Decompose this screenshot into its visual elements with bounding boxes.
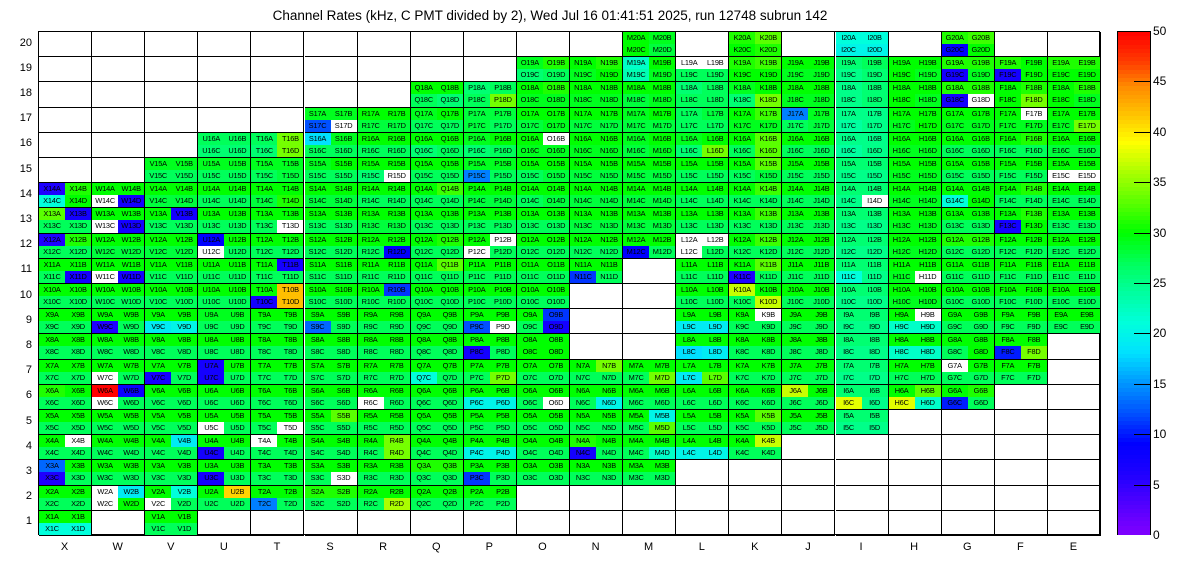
heatmap-cell: U16AU16BU16CU16D — [198, 133, 251, 158]
channel-cell: K13A — [729, 208, 755, 220]
channel-cell: H9A — [889, 309, 915, 321]
heatmap-cell — [729, 511, 782, 536]
channel-cell: N19C — [570, 69, 596, 81]
channel-cell: I8A — [836, 334, 862, 346]
channel-cell: G12D — [968, 246, 994, 258]
channel-cell: I14A — [836, 183, 862, 195]
channel-cell: O12B — [543, 234, 569, 246]
channel-cell: J18A — [782, 82, 808, 94]
heatmap-cell — [39, 32, 92, 57]
channel-cell: U7C — [198, 372, 224, 384]
channel-cell: Q12C — [411, 246, 437, 258]
channel-cell: S3D — [331, 472, 357, 484]
channel-cell: K7B — [755, 360, 781, 372]
heatmap-cell: T8AT8BT8CT8D — [251, 334, 304, 359]
heatmap-cell: L9AL9BL9CL9D — [676, 309, 729, 334]
channel-cell: K20C — [729, 44, 755, 56]
heatmap-cell: E14AE14BE14CE14D — [1048, 183, 1101, 208]
channel-cell: I7A — [836, 360, 862, 372]
heatmap-cell: J12AJ12BJ12CJ12D — [782, 234, 835, 259]
channel-cell: N6D — [596, 397, 622, 409]
channel-cell: Q8A — [411, 334, 437, 346]
channel-cell: T15D — [277, 170, 303, 182]
y-axis-tick-label: 5 — [4, 415, 32, 427]
channel-cell: Q14C — [411, 195, 437, 207]
channel-cell: X11C — [39, 271, 65, 283]
channel-cell: F12D — [1021, 246, 1047, 258]
heatmap-cell — [198, 511, 251, 536]
channel-cell: T12D — [277, 246, 303, 258]
heatmap-cell: X2AX2BX2CX2D — [39, 486, 92, 511]
channel-cell: S6D — [331, 397, 357, 409]
channel-cell: X13C — [39, 220, 65, 232]
channel-cell: H19B — [915, 57, 941, 69]
channel-cell: K5D — [755, 422, 781, 434]
heatmap-cell: O6AO6BO6CO6D — [517, 385, 570, 410]
channel-cell: H19A — [889, 57, 915, 69]
channel-cell: F19C — [995, 69, 1021, 81]
channel-cell: I6A — [836, 385, 862, 397]
channel-cell: G6B — [968, 385, 994, 397]
heatmap-cell: X10AX10BX10CX10D — [39, 284, 92, 309]
colorbar-segment — [1118, 530, 1150, 535]
heatmap-cell: X3AX3BX3CX3D — [39, 460, 92, 485]
channel-cell: T7B — [277, 360, 303, 372]
heatmap-cell: R12AR12BR12CR12D — [358, 234, 411, 259]
channel-cell: G13B — [968, 208, 994, 220]
channel-cell: J14D — [808, 195, 834, 207]
heatmap-cell: L8AL8BL8CL8D — [676, 334, 729, 359]
channel-cell: N16C — [570, 145, 596, 157]
channel-cell: T10D — [277, 296, 303, 308]
channel-cell: W10C — [92, 296, 118, 308]
heatmap-cell — [570, 511, 623, 536]
heatmap-cell: E9AE9BE9CE9D — [1048, 309, 1101, 334]
heatmap-cell — [570, 309, 623, 334]
channel-cell: F9A — [995, 309, 1021, 321]
channel-cell: X6B — [65, 385, 91, 397]
heatmap-cell — [995, 32, 1048, 57]
channel-cell: X12C — [39, 246, 65, 258]
channel-cell: R5C — [358, 422, 384, 434]
channel-cell: R14C — [358, 195, 384, 207]
channel-cell: L13C — [676, 220, 702, 232]
heatmap-cell: H10AH10BH10CH10D — [889, 284, 942, 309]
channel-cell: J15D — [808, 170, 834, 182]
channel-cell: Q18B — [437, 82, 463, 94]
channel-cell: Q9A — [411, 309, 437, 321]
heatmap-cell — [92, 32, 145, 57]
channel-cell: L9A — [676, 309, 702, 321]
heatmap-cell: O16AO16BO16CO16D — [517, 133, 570, 158]
channel-cell: E17B — [1074, 108, 1100, 120]
channel-cell: F18B — [1021, 82, 1047, 94]
channel-cell: T12A — [251, 234, 277, 246]
heatmap-cell: P5AP5BP5CP5D — [464, 410, 517, 435]
channel-cell: U8D — [224, 346, 250, 358]
heatmap-cell: J19AJ19BJ19CJ19D — [782, 57, 835, 82]
channel-cell: W3C — [92, 472, 118, 484]
channel-cell: Q14B — [437, 183, 463, 195]
channel-cell: P2C — [464, 498, 490, 510]
channel-cell: P17D — [490, 120, 516, 132]
x-axis-tick-label: F — [1000, 541, 1040, 553]
channel-cell: U2D — [224, 498, 250, 510]
channel-cell: R11B — [384, 259, 410, 271]
channel-cell: L7A — [676, 360, 702, 372]
heatmap-cell: V8AV8BV8CV8D — [145, 334, 198, 359]
channel-cell: S13A — [305, 208, 331, 220]
channel-cell: G10A — [942, 284, 968, 296]
x-axis-tick-label: R — [363, 541, 403, 553]
channel-cell: K16B — [755, 133, 781, 145]
channel-cell: K4C — [729, 447, 755, 459]
channel-cell: R6B — [384, 385, 410, 397]
channel-cell: U14A — [198, 183, 224, 195]
channel-cell: F10A — [995, 284, 1021, 296]
channel-cell: P17A — [464, 108, 490, 120]
channel-cell: J7A — [782, 360, 808, 372]
channel-cell: E16C — [1048, 145, 1074, 157]
channel-cell: F10C — [995, 296, 1021, 308]
channel-cell: P16A — [464, 133, 490, 145]
channel-cell: I17D — [862, 120, 888, 132]
channel-cell: V5B — [171, 410, 197, 422]
channel-cell: L12C — [676, 246, 702, 258]
heatmap-cell: J5AJ5BJ5CJ5D — [782, 410, 835, 435]
chart-title: Channel Rates (kHz, C PMT divided by 2),… — [0, 8, 1100, 23]
channel-cell: J5A — [782, 410, 808, 422]
channel-cell: Q8B — [437, 334, 463, 346]
heatmap-cell: M4AM4BM4CM4D — [623, 435, 676, 460]
channel-cell: S9D — [331, 321, 357, 333]
channel-cell: G18B — [968, 82, 994, 94]
y-axis-tick-label: 19 — [4, 62, 32, 74]
channel-cell: S3B — [331, 460, 357, 472]
heatmap-cell — [995, 511, 1048, 536]
heatmap-cell: K17AK17BK17CK17D — [729, 108, 782, 133]
channel-cell: E12C — [1048, 246, 1074, 258]
channel-cell: M13A — [623, 208, 649, 220]
heatmap-cell: S14AS14BS14CS14D — [305, 183, 358, 208]
heatmap-cell — [145, 57, 198, 82]
channel-cell: T8B — [277, 334, 303, 346]
channel-cell: T5C — [251, 422, 277, 434]
channel-cell: T16D — [277, 145, 303, 157]
channel-cell: L19C — [676, 69, 702, 81]
heatmap-cell: X9AX9BX9CX9D — [39, 309, 92, 334]
channel-cell: O3A — [517, 460, 543, 472]
channel-cell: F17A — [995, 108, 1021, 120]
channel-cell: R8D — [384, 346, 410, 358]
heatmap-cell: O11AO11BO11CO11D — [517, 259, 570, 284]
colorbar-tick-label: 40 — [1153, 125, 1166, 139]
channel-cell: V11B — [171, 259, 197, 271]
channel-cell: I6C — [836, 397, 862, 409]
heatmap-cell: R14AR14BR14CR14D — [358, 183, 411, 208]
channel-cell: W5C — [92, 422, 118, 434]
channel-cell: P16C — [464, 145, 490, 157]
heatmap-cell: W6AW6BW6CW6D — [92, 385, 145, 410]
channel-cell: F16C — [995, 145, 1021, 157]
channel-cell: G19B — [968, 57, 994, 69]
channel-cell: H19C — [889, 69, 915, 81]
channel-cell: V6B — [171, 385, 197, 397]
heatmap-cell: F18AF18BF18CF18D — [995, 82, 1048, 107]
channel-cell: V14C — [145, 195, 171, 207]
x-axis-tick-label: E — [1053, 541, 1093, 553]
x-axis-tick-label: H — [894, 541, 934, 553]
channel-cell: V7A — [145, 360, 171, 372]
channel-cell: Q13D — [437, 220, 463, 232]
channel-cell: L6A — [676, 385, 702, 397]
channel-cell: U6D — [224, 397, 250, 409]
channel-cell: T15A — [251, 158, 277, 170]
heatmap-cell: P13AP13BP13CP13D — [464, 208, 517, 233]
channel-cell: U13D — [224, 220, 250, 232]
heatmap-cell: S2AS2BS2CS2D — [305, 486, 358, 511]
channel-cell: S16D — [331, 145, 357, 157]
colorbar-tick-mark — [1134, 333, 1151, 334]
channel-cell: G11B — [968, 259, 994, 271]
channel-cell: S17A — [305, 108, 331, 120]
channel-cell: P15D — [490, 170, 516, 182]
channel-cell: S11A — [305, 259, 331, 271]
y-axis-tick-label: 13 — [4, 213, 32, 225]
channel-cell: N16B — [596, 133, 622, 145]
channel-cell: U13B — [224, 208, 250, 220]
channel-cell: G17A — [942, 108, 968, 120]
heatmap-cell: M15AM15BM15CM15D — [623, 158, 676, 183]
channel-cell: Q7D — [437, 372, 463, 384]
channel-cell: K5A — [729, 410, 755, 422]
channel-cell: R12B — [384, 234, 410, 246]
channel-cell: J11B — [808, 259, 834, 271]
colorbar-tick-label: 15 — [1153, 377, 1166, 391]
channel-cell: H11A — [889, 259, 915, 271]
heatmap-cell — [1048, 360, 1101, 385]
channel-cell: U2B — [224, 486, 250, 498]
channel-cell: K17B — [755, 108, 781, 120]
channel-cell: W12A — [92, 234, 118, 246]
channel-cell: L16D — [702, 145, 728, 157]
channel-cell: X11B — [65, 259, 91, 271]
channel-cell: J19C — [782, 69, 808, 81]
channel-cell: U9C — [198, 321, 224, 333]
channel-cell: X1A — [39, 511, 65, 523]
channel-cell: X12A — [39, 234, 65, 246]
channel-cell: R4A — [358, 435, 384, 447]
heatmap-cell: F15AF15BF15CF15D — [995, 158, 1048, 183]
x-axis-tick-label: S — [310, 541, 350, 553]
channel-cell: U5A — [198, 410, 224, 422]
channel-cell: X8C — [39, 346, 65, 358]
channel-cell: T3B — [277, 460, 303, 472]
heatmap-cell: R5AR5BR5CR5D — [358, 410, 411, 435]
channel-cell: F8B — [1021, 334, 1047, 346]
channel-cell: M17C — [623, 120, 649, 132]
channel-cell: Q18A — [411, 82, 437, 94]
heatmap-cell: L14AL14BL14CL14D — [676, 183, 729, 208]
channel-cell: X4C — [39, 447, 65, 459]
channel-cell: M14C — [623, 195, 649, 207]
channel-cell: E16B — [1074, 133, 1100, 145]
channel-cell: F17D — [1021, 120, 1047, 132]
channel-cell: V5D — [171, 422, 197, 434]
channel-cell: M3D — [649, 472, 675, 484]
channel-cell: F12A — [995, 234, 1021, 246]
heatmap-cell — [570, 284, 623, 309]
channel-cell: L19A — [676, 57, 702, 69]
channel-cell: P17B — [490, 108, 516, 120]
channel-cell: Q5C — [411, 422, 437, 434]
channel-cell: S16C — [305, 145, 331, 157]
heatmap-cell: V7AV7BV7CV7D — [145, 360, 198, 385]
channel-cell: U2A — [198, 486, 224, 498]
channel-cell: J11A — [782, 259, 808, 271]
heatmap-cell: U14AU14BU14CU14D — [198, 183, 251, 208]
channel-cell: G12B — [968, 234, 994, 246]
channel-cell: P7C — [464, 372, 490, 384]
heatmap-cell: Q5AQ5BQ5CQ5D — [411, 410, 464, 435]
channel-cell: J19D — [808, 69, 834, 81]
channel-cell: F14A — [995, 183, 1021, 195]
channel-cell: V1B — [171, 511, 197, 523]
channel-cell: S5B — [331, 410, 357, 422]
channel-cell: N7C — [570, 372, 596, 384]
channel-cell: R10B — [384, 284, 410, 296]
channel-cell: T11A — [251, 259, 277, 271]
heatmap-cell: T4AT4BT4CT4D — [251, 435, 304, 460]
channel-cell: F15C — [995, 170, 1021, 182]
channel-cell: M5B — [649, 410, 675, 422]
heatmap-cell: S4AS4BS4CS4D — [305, 435, 358, 460]
heatmap-cell: U4AU4BU4CU4D — [198, 435, 251, 460]
channel-cell: F18A — [995, 82, 1021, 94]
heatmap-cell: W8AW8BW8CW8D — [92, 334, 145, 359]
channel-cell: J7D — [808, 372, 834, 384]
channel-cell: J6B — [808, 385, 834, 397]
heatmap-cell — [198, 82, 251, 107]
heatmap-cell — [39, 158, 92, 183]
channel-cell: W5D — [118, 422, 144, 434]
channel-cell: F14C — [995, 195, 1021, 207]
y-axis-tick-label: 6 — [4, 389, 32, 401]
heatmap-cell: R9AR9BR9CR9D — [358, 309, 411, 334]
channel-cell: K18B — [755, 82, 781, 94]
channel-cell: K8D — [755, 346, 781, 358]
heatmap-cell: F14AF14BF14CF14D — [995, 183, 1048, 208]
channel-cell: N14B — [596, 183, 622, 195]
channel-cell: T7C — [251, 372, 277, 384]
channel-cell: W10A — [92, 284, 118, 296]
heatmap-cell: K19AK19BK19CK19D — [729, 57, 782, 82]
heatmap-cell: X6AX6BX6CX6D — [39, 385, 92, 410]
channel-cell: F15A — [995, 158, 1021, 170]
heatmap-cell — [198, 32, 251, 57]
channel-cell: O11B — [543, 259, 569, 271]
channel-cell: G15D — [968, 170, 994, 182]
channel-cell: X10C — [39, 296, 65, 308]
channel-cell: M12D — [649, 246, 675, 258]
heatmap-cell: P2AP2BP2CP2D — [464, 486, 517, 511]
channel-cell: O7C — [517, 372, 543, 384]
channel-cell: H7C — [889, 372, 915, 384]
channel-cell: I17C — [836, 120, 862, 132]
channel-cell: S14B — [331, 183, 357, 195]
channel-cell: P14C — [464, 195, 490, 207]
channel-cell: X7D — [65, 372, 91, 384]
heatmap-cell — [305, 511, 358, 536]
channel-cell: W14A — [92, 183, 118, 195]
heatmap-cell: V5AV5BV5CV5D — [145, 410, 198, 435]
channel-cell: P7A — [464, 360, 490, 372]
channel-cell: I9B — [862, 309, 888, 321]
channel-cell: J16A — [782, 133, 808, 145]
channel-cell: N18A — [570, 82, 596, 94]
channel-cell: P15A — [464, 158, 490, 170]
channel-cell: O15B — [543, 158, 569, 170]
channel-cell: P4A — [464, 435, 490, 447]
channel-cell: L5A — [676, 410, 702, 422]
heatmap-cell: K20AK20BK20CK20D — [729, 32, 782, 57]
channel-cell: J13A — [782, 208, 808, 220]
channel-cell: M16A — [623, 133, 649, 145]
channel-cell: Q10A — [411, 284, 437, 296]
heatmap-cell: I18AI18BI18CI18D — [836, 82, 889, 107]
channel-cell: J17C — [782, 120, 808, 132]
heatmap-cell: M7AM7BM7CM7D — [623, 360, 676, 385]
heatmap-cell: Q8AQ8BQ8CQ8D — [411, 334, 464, 359]
channel-cell: K10D — [755, 296, 781, 308]
channel-cell: P8A — [464, 334, 490, 346]
channel-cell: F9C — [995, 321, 1021, 333]
heatmap-cell: G15AG15BG15CG15D — [942, 158, 995, 183]
channel-cell: W9D — [118, 321, 144, 333]
channel-cell: F15D — [1021, 170, 1047, 182]
heatmap-cell: T13AT13BT13CT13D — [251, 208, 304, 233]
heatmap-cell: S6AS6BS6CS6D — [305, 385, 358, 410]
channel-cell: P4C — [464, 447, 490, 459]
heatmap-cell — [1048, 435, 1101, 460]
channel-cell: J8A — [782, 334, 808, 346]
channel-cell: O15A — [517, 158, 543, 170]
channel-cell: T13B — [277, 208, 303, 220]
channel-cell: U8A — [198, 334, 224, 346]
channel-cell: T9B — [277, 309, 303, 321]
channel-cell: S2A — [305, 486, 331, 498]
channel-cell: K19A — [729, 57, 755, 69]
heatmap-cell — [1048, 460, 1101, 485]
channel-cell: R10D — [384, 296, 410, 308]
heatmap-cell — [517, 511, 570, 536]
channel-cell: J14A — [782, 183, 808, 195]
channel-cell: K7A — [729, 360, 755, 372]
heatmap-cell: R15AR15BR15CR15D — [358, 158, 411, 183]
channel-cell: Q6A — [411, 385, 437, 397]
heatmap-cell: E13AE13BE13CE13D — [1048, 208, 1101, 233]
heatmap-cell: T9AT9BT9CT9D — [251, 309, 304, 334]
channel-cell: J15B — [808, 158, 834, 170]
heatmap-cell: E11AE11BE11CE11D — [1048, 259, 1101, 284]
channel-cell: P7B — [490, 360, 516, 372]
channel-cell: E19A — [1048, 57, 1074, 69]
channel-cell: K11D — [755, 271, 781, 283]
channel-cell: G15C — [942, 170, 968, 182]
heatmap-cell: R3AR3BR3CR3D — [358, 460, 411, 485]
channel-cell: N4D — [596, 447, 622, 459]
channel-cell: K4A — [729, 435, 755, 447]
